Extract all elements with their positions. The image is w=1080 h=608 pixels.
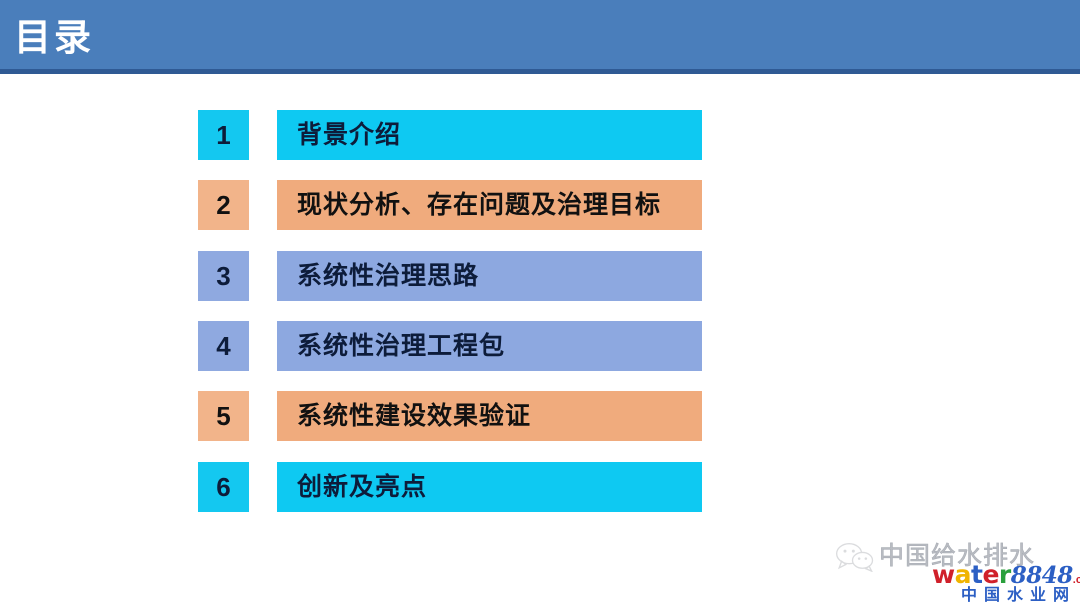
- watermark-number: 8848: [1011, 562, 1073, 589]
- watermark: 中国给水排水 water8848.com 中国水业网: [833, 534, 1080, 608]
- slide-canvas: 目录 1背景介绍2现状分析、存在问题及治理目标3系统性治理思路4系统性治理工程包…: [0, 0, 1080, 608]
- toc-item-4[interactable]: 4系统性治理工程包: [198, 321, 702, 371]
- toc-title-bar[interactable]: 系统性建设效果验证: [277, 391, 702, 441]
- watermark-letter-r: r: [999, 560, 1011, 589]
- toc-item-2[interactable]: 2现状分析、存在问题及治理目标: [198, 180, 702, 230]
- toc-item-label: 现状分析、存在问题及治理目标: [277, 193, 661, 218]
- toc-list: 1背景介绍2现状分析、存在问题及治理目标3系统性治理思路4系统性治理工程包5系统…: [0, 0, 1080, 608]
- toc-number-label: 5: [216, 403, 230, 429]
- wechat-icon: [835, 542, 875, 572]
- toc-item-label: 系统性治理工程包: [277, 334, 505, 359]
- toc-number-box: 2: [198, 180, 249, 230]
- toc-item-label: 系统性治理思路: [277, 264, 479, 289]
- toc-number-box: 3: [198, 251, 249, 301]
- watermark-letter-a: a: [955, 560, 971, 589]
- toc-number-box: 6: [198, 462, 249, 512]
- toc-number-label: 3: [216, 263, 230, 289]
- toc-number-box: 5: [198, 391, 249, 441]
- toc-item-1[interactable]: 1背景介绍: [198, 110, 702, 160]
- toc-item-6[interactable]: 6创新及亮点: [198, 462, 702, 512]
- toc-title-bar[interactable]: 现状分析、存在问题及治理目标: [277, 180, 702, 230]
- toc-title-bar[interactable]: 系统性治理工程包: [277, 321, 702, 371]
- toc-number-label: 4: [216, 333, 230, 359]
- toc-item-label: 背景介绍: [277, 123, 401, 148]
- watermark-letter-e: e: [982, 560, 998, 589]
- watermark-letter-t: t: [971, 560, 982, 589]
- toc-title-bar[interactable]: 背景介绍: [277, 110, 702, 160]
- toc-number-box: 4: [198, 321, 249, 371]
- watermark-letter-w: w: [932, 560, 955, 589]
- toc-item-5[interactable]: 5系统性建设效果验证: [198, 391, 702, 441]
- toc-item-label: 创新及亮点: [277, 475, 427, 500]
- toc-number-label: 2: [216, 192, 230, 218]
- toc-title-bar[interactable]: 系统性治理思路: [277, 251, 702, 301]
- toc-item-3[interactable]: 3系统性治理思路: [198, 251, 702, 301]
- watermark-tld: .com: [1073, 574, 1080, 586]
- toc-title-bar[interactable]: 创新及亮点: [277, 462, 702, 512]
- toc-number-box: 1: [198, 110, 249, 160]
- toc-number-label: 6: [216, 474, 230, 500]
- watermark-cn-subtitle: 中国水业网: [961, 586, 1076, 606]
- toc-item-label: 系统性建设效果验证: [277, 404, 531, 429]
- toc-number-label: 1: [216, 122, 230, 148]
